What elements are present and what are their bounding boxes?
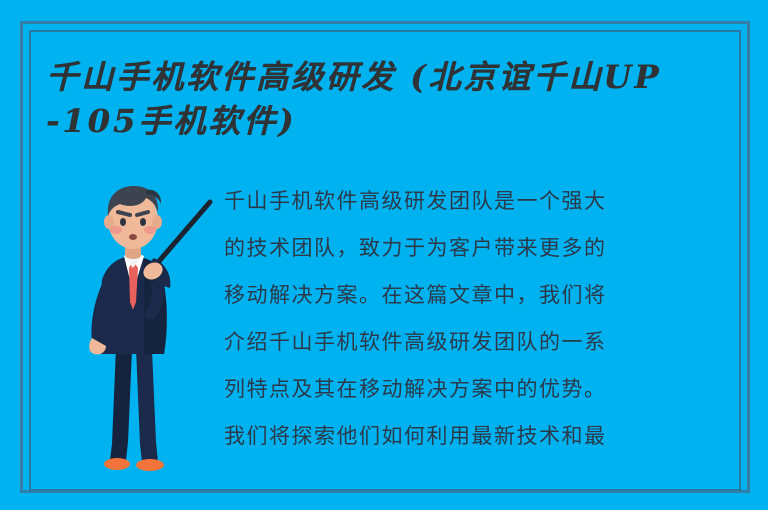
page-title: 千山手机软件高级研发 (北京谊千山UP -105手机软件): [46, 55, 726, 143]
body-line-3: 移动解决方案。在这篇文章中，我们将: [224, 272, 724, 319]
title-line-1: 千山手机软件高级研发 (北京谊千山UP: [46, 55, 726, 99]
body-line-2: 的技术团队，致力于为客户带来更多的: [224, 225, 724, 272]
body-line-4: 介绍千山手机软件高级研发团队的一系: [224, 319, 724, 366]
shoe-left: [104, 458, 130, 470]
body-paragraph: 千山手机软件高级研发团队是一个强大 的技术团队，致力于为客户带来更多的 移动解决…: [224, 178, 724, 460]
body-line-6: 我们将探索他们如何利用最新技术和最: [224, 413, 724, 460]
body-line-1: 千山手机软件高级研发团队是一个强大: [224, 178, 724, 225]
poster-canvas: 千山手机软件高级研发 (北京谊千山UP -105手机软件): [0, 0, 768, 510]
title-line-2: -105手机软件): [46, 99, 726, 143]
pointer-stick-icon: [154, 202, 210, 267]
shoe-right: [136, 459, 164, 471]
businessman-illustration: [58, 172, 218, 482]
body-line-5: 列特点及其在移动解决方案中的优势。: [224, 366, 724, 413]
